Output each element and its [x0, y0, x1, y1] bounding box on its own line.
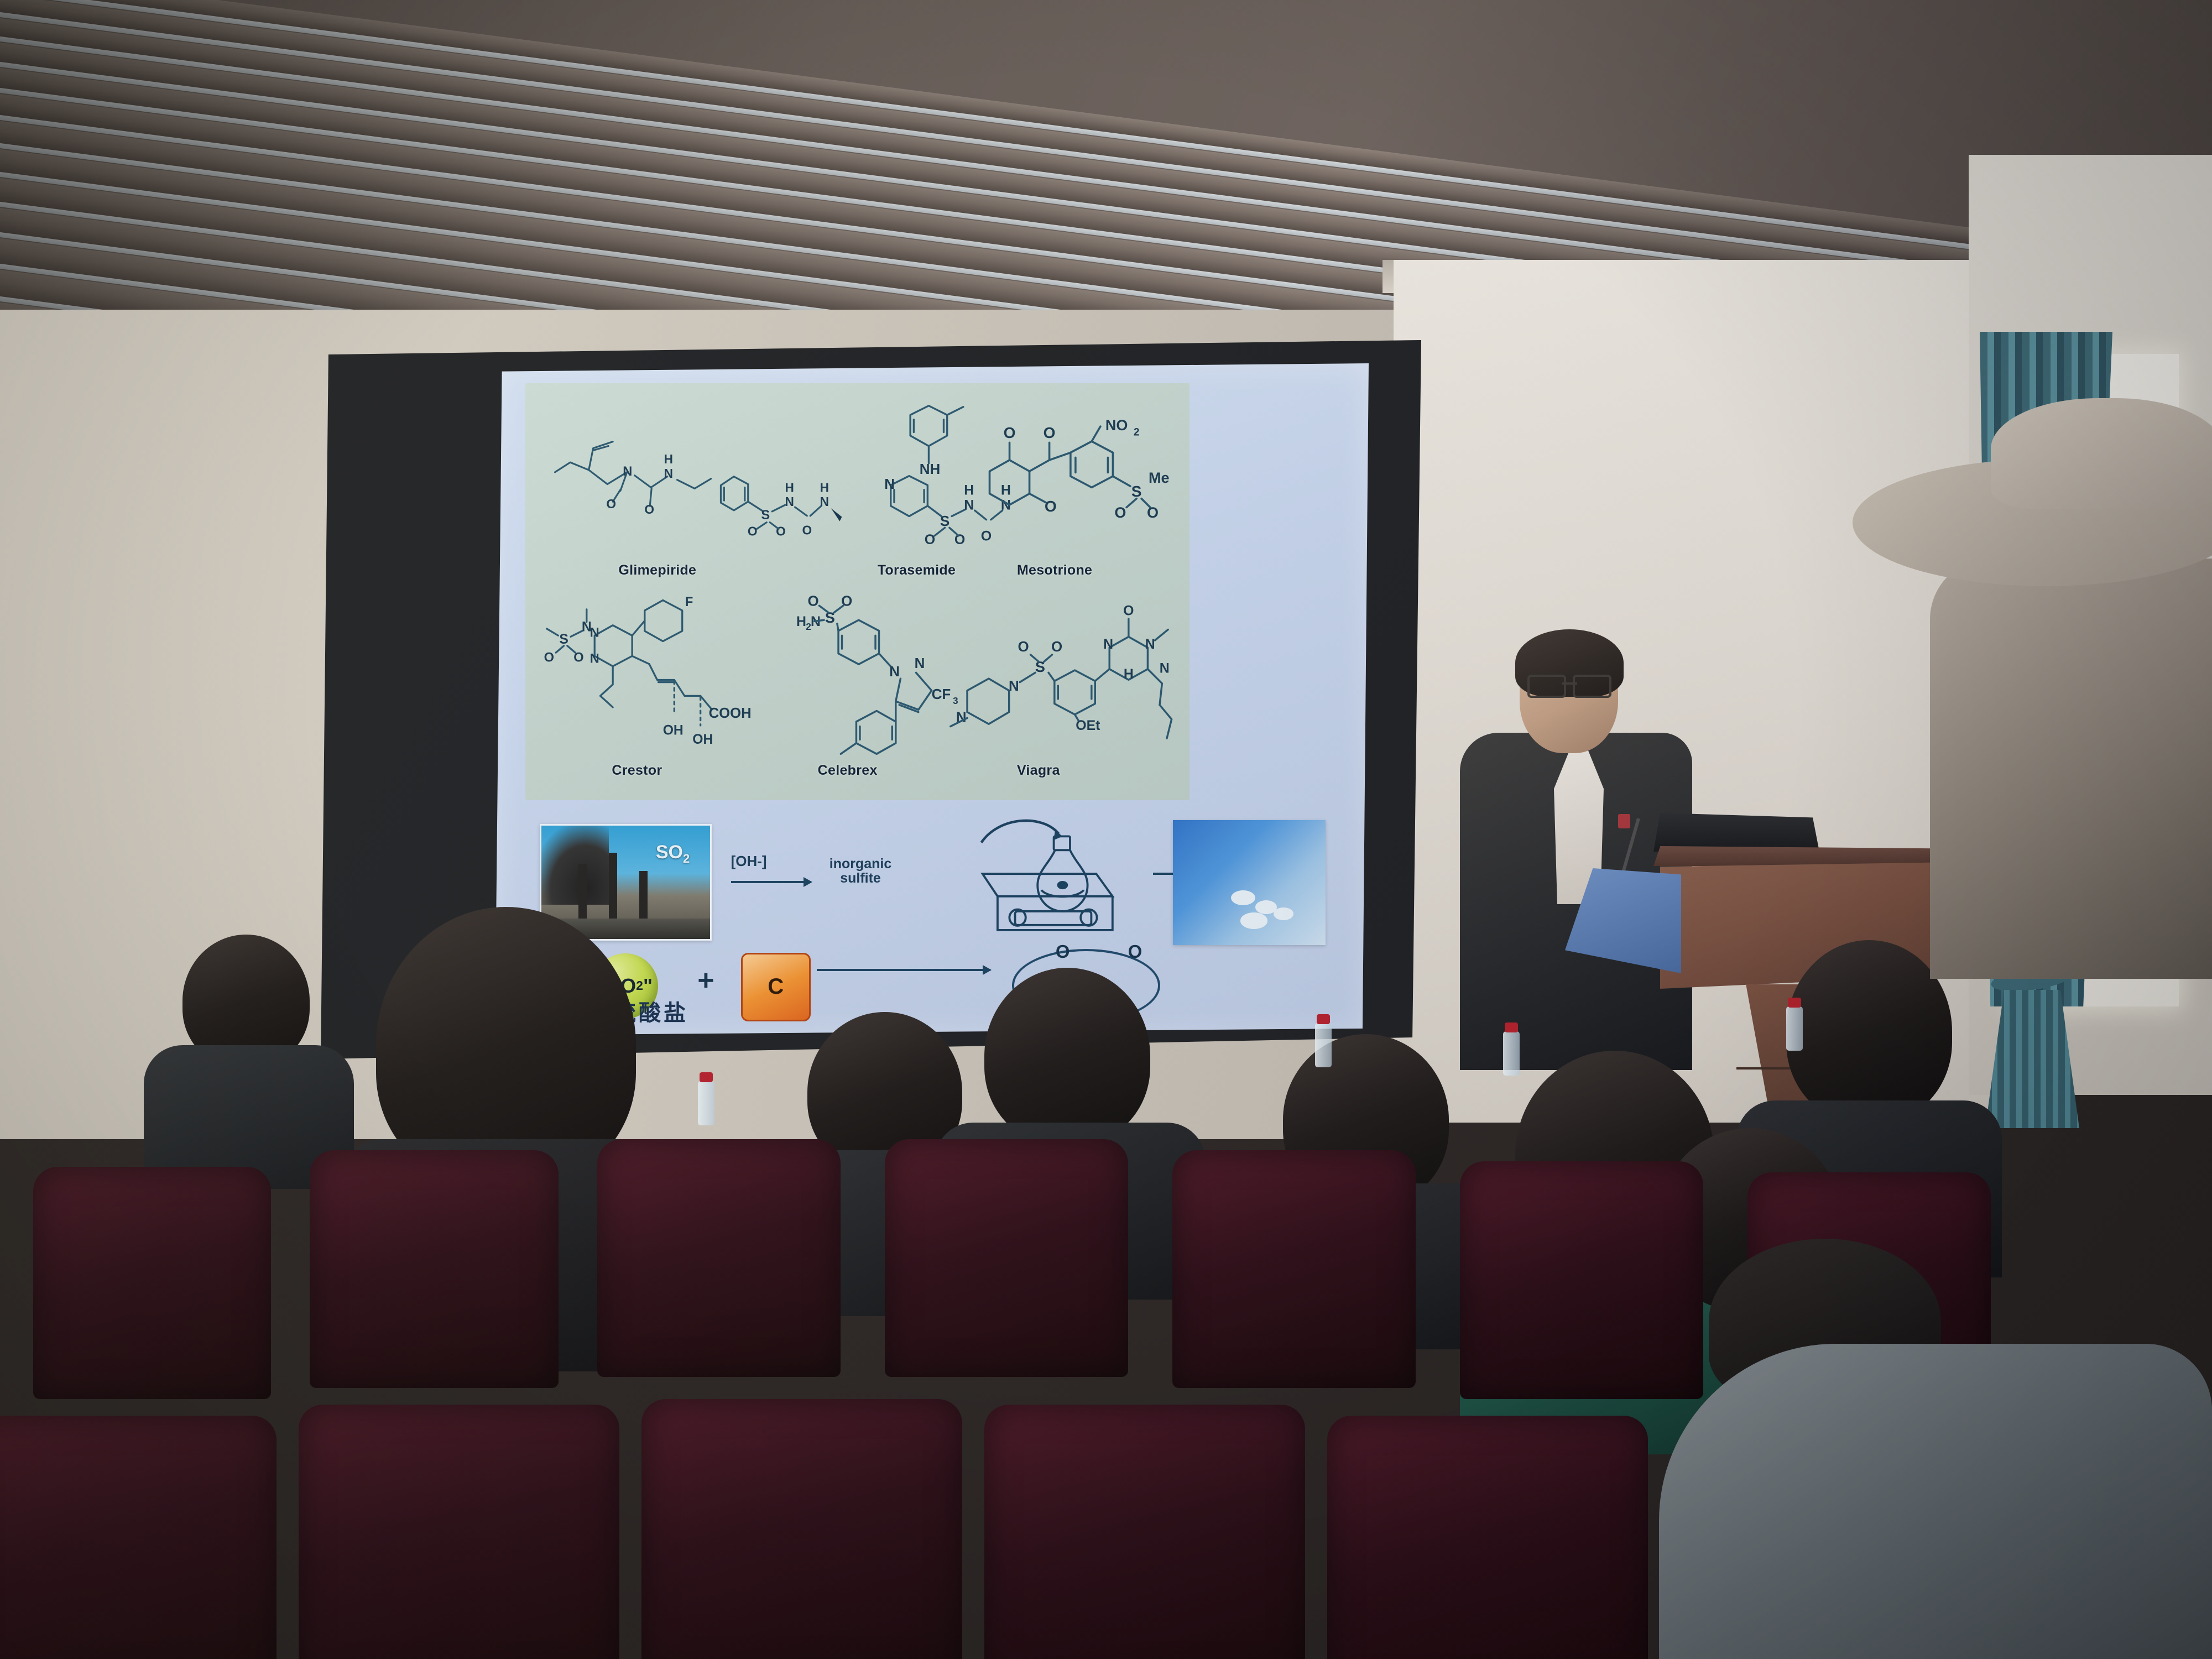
svg-text:O: O — [924, 531, 935, 547]
smoke-plume — [540, 824, 609, 905]
viagra-structure: N N S O O OEt — [937, 583, 1176, 784]
chimney — [578, 864, 587, 923]
molecule-label-torasemide: Torasemide — [878, 562, 956, 578]
auditorium-seat[interactable] — [1172, 1150, 1416, 1388]
auditorium-seat[interactable] — [299, 1405, 619, 1659]
celebrex-structure: O O S H 2 N N — [771, 583, 951, 784]
water-bottle[interactable] — [698, 1081, 714, 1125]
svg-text:O: O — [1003, 424, 1015, 441]
speaker-badge — [1618, 814, 1630, 828]
auditorium-seat[interactable] — [597, 1139, 841, 1377]
attendee-foreground-gray — [1659, 1344, 2212, 1659]
auditorium-seat[interactable] — [0, 1416, 276, 1659]
svg-text:N: N — [889, 664, 900, 680]
hat-person-body — [1930, 559, 2212, 979]
svg-text:H: H — [964, 482, 974, 498]
svg-text:O: O — [807, 594, 818, 609]
chemical-structures-panel: N O N H O S O — [525, 383, 1190, 800]
chimney — [639, 871, 648, 923]
hat-crown — [1991, 398, 2212, 509]
svg-text:O: O — [1018, 639, 1029, 655]
svg-text:S: S — [560, 632, 568, 647]
reaction-equation: "SO2" + C O O 亚硫酸盐 — [578, 947, 1301, 1024]
svg-text:H: H — [664, 452, 673, 466]
crystal — [1240, 912, 1268, 928]
svg-text:OH: OH — [693, 732, 713, 747]
svg-text:N: N — [785, 494, 794, 509]
svg-text:H: H — [796, 614, 806, 629]
auditorium-seat[interactable] — [984, 1405, 1305, 1659]
reaction-arrow-1 — [731, 881, 811, 883]
plus-sign: + — [697, 964, 714, 997]
auditorium-seat[interactable] — [310, 1150, 559, 1388]
svg-text:O: O — [1051, 639, 1062, 655]
inorganic-sulfite-label: inorganic sulfite — [827, 857, 894, 886]
svg-text:N: N — [590, 625, 599, 640]
svg-text:O: O — [1043, 424, 1055, 441]
svg-text:S: S — [940, 512, 950, 529]
svg-text:O: O — [748, 524, 758, 538]
so2-photo-label: SO2 — [656, 842, 690, 866]
auditorium-seat[interactable] — [33, 1167, 271, 1399]
auditorium-seat[interactable] — [1460, 1161, 1703, 1399]
stir-plate-apparatus — [932, 820, 1141, 945]
svg-text:NH: NH — [919, 461, 940, 477]
svg-text:H: H — [1124, 667, 1134, 682]
bottle-cap — [1788, 998, 1801, 1008]
attendee-with-hat — [1897, 420, 2212, 973]
svg-text:OH: OH — [663, 723, 684, 738]
carbon-reactant-box: C — [741, 953, 811, 1021]
svg-text:N: N — [623, 465, 633, 479]
svg-text:S: S — [1131, 482, 1142, 499]
svg-text:O: O — [1045, 498, 1057, 515]
molecule-label-glimepiride: Glimepiride — [618, 562, 696, 578]
svg-text:2: 2 — [1134, 426, 1140, 438]
molecule-label-viagra: Viagra — [1017, 763, 1060, 779]
svg-text:N: N — [964, 497, 974, 513]
auditorium-seat[interactable] — [641, 1399, 962, 1659]
bottle-cap — [700, 1072, 713, 1082]
svg-text:N: N — [1159, 661, 1169, 676]
svg-text:Me: Me — [1149, 469, 1170, 486]
auditorium-seat[interactable] — [885, 1139, 1128, 1377]
svg-text:S: S — [761, 508, 770, 523]
svg-text:O: O — [544, 651, 554, 665]
svg-text:N: N — [820, 494, 829, 509]
product-photo — [1173, 820, 1326, 945]
bottle-cap — [1505, 1022, 1518, 1032]
svg-text:O: O — [645, 502, 655, 516]
svg-text:O: O — [607, 497, 617, 511]
product-oxygen-2: O — [1128, 941, 1142, 962]
svg-text:O: O — [1114, 504, 1126, 520]
molecule-label-crestor: Crestor — [612, 763, 662, 779]
lecture-hall-photo: N O N H O S O — [0, 0, 2212, 1659]
water-bottle[interactable] — [1315, 1023, 1332, 1067]
svg-text:N: N — [1009, 679, 1019, 694]
svg-text:O: O — [1123, 604, 1134, 619]
svg-text:OEt: OEt — [1076, 718, 1100, 733]
water-bottle[interactable] — [1786, 1006, 1803, 1051]
svg-text:F: F — [685, 595, 693, 609]
svg-text:N: N — [1145, 637, 1155, 652]
svg-text:O: O — [776, 524, 786, 538]
molecule-label-mesotrione: Mesotrione — [1017, 562, 1092, 578]
svg-text:COOH: COOH — [709, 706, 752, 721]
svg-text:N: N — [1103, 637, 1113, 652]
svg-text:N: N — [884, 476, 895, 492]
chimney — [609, 853, 617, 923]
molecule-label-celebrex: Celebrex — [818, 763, 878, 779]
hydroxide-reagent-label: [OH-] — [731, 853, 767, 870]
svg-text:N: N — [664, 466, 673, 480]
crystal — [1274, 907, 1293, 920]
mesotrione-structure: O O O NO 2 S — [977, 409, 1176, 583]
process-diagram: SO2 [OH-] inorganic sulfite — [530, 820, 1334, 1022]
crystal — [1231, 890, 1255, 905]
reaction-arrow-3 — [817, 969, 990, 971]
svg-text:N: N — [590, 652, 599, 666]
head — [984, 968, 1150, 1145]
water-bottle[interactable] — [1503, 1031, 1520, 1076]
product-oxygen-1: O — [1056, 941, 1070, 962]
presentation-slide: N O N H O S O — [495, 363, 1369, 1035]
svg-text:H: H — [785, 480, 794, 494]
svg-text:O: O — [802, 523, 812, 537]
bottle-cap — [1317, 1014, 1330, 1024]
svg-text:H: H — [820, 480, 829, 494]
eyeglasses-icon — [1527, 675, 1611, 695]
svg-text:N: N — [914, 656, 925, 671]
crestor-structure: S O O N N N F — [532, 592, 771, 775]
svg-text:NO: NO — [1105, 417, 1128, 434]
auditorium-seat[interactable] — [1327, 1416, 1648, 1659]
